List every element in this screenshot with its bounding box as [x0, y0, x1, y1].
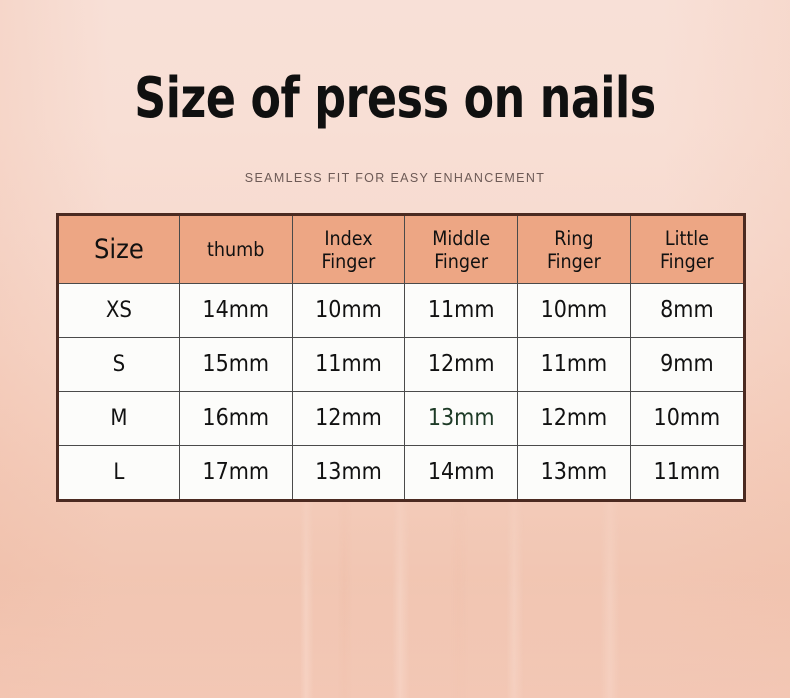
- cell-ring-finger-l: 13mm: [518, 446, 631, 500]
- column-header-little-finger-line2: Finger: [632, 250, 742, 273]
- cell-middle-finger-xs: 11mm: [405, 284, 518, 338]
- cell-size-s: S: [59, 338, 179, 392]
- cell-thumb-m: 16mm: [179, 392, 292, 446]
- column-header-middle-finger-line1: Middle: [406, 227, 516, 250]
- cell-ring-finger-m: 12mm: [518, 392, 631, 446]
- cell-size-m: M: [59, 392, 179, 446]
- background-bottom-glow: [0, 578, 790, 698]
- column-header-size-line1: Size: [60, 235, 178, 265]
- cell-index-finger-s: 11mm: [292, 338, 405, 392]
- cell-index-finger-xs: 10mm: [292, 284, 405, 338]
- cell-ring-finger-xs: 10mm: [518, 284, 631, 338]
- column-header-index-finger-line2: Finger: [294, 250, 404, 273]
- column-header-size: Size: [59, 216, 179, 284]
- cell-middle-finger-m: 13mm: [405, 392, 518, 446]
- cell-size-xs: XS: [59, 284, 179, 338]
- cell-middle-finger-s: 12mm: [405, 338, 518, 392]
- column-header-middle-finger-line2: Finger: [406, 250, 516, 273]
- column-header-thumb-line1: thumb: [181, 238, 291, 261]
- column-header-little-finger: Little Finger: [630, 216, 743, 284]
- cell-index-finger-m: 12mm: [292, 392, 405, 446]
- cell-thumb-s: 15mm: [179, 338, 292, 392]
- cell-middle-finger-l: 14mm: [405, 446, 518, 500]
- column-header-ring-finger: Ring Finger: [518, 216, 631, 284]
- size-table-body: XS 14mm 10mm 11mm 10mm 8mm S 15mm 11mm 1…: [59, 284, 743, 500]
- cell-little-finger-xs: 8mm: [630, 284, 743, 338]
- size-chart-page: Size of press on nails SEAMLESS FIT FOR …: [0, 0, 790, 698]
- cell-ring-finger-s: 11mm: [518, 338, 631, 392]
- size-table-container: Size thumb Index Finger Middle Finger: [56, 213, 746, 502]
- cell-little-finger-l: 11mm: [630, 446, 743, 500]
- column-header-ring-finger-line1: Ring: [519, 227, 629, 250]
- table-row: S 15mm 11mm 12mm 11mm 9mm: [59, 338, 743, 392]
- cell-thumb-xs: 14mm: [179, 284, 292, 338]
- column-header-index-finger-line1: Index: [294, 227, 404, 250]
- table-header-row: Size thumb Index Finger Middle Finger: [59, 216, 743, 284]
- cell-little-finger-m: 10mm: [630, 392, 743, 446]
- page-title: Size of press on nails: [47, 68, 742, 130]
- page-subtitle: SEAMLESS FIT FOR EASY ENHANCEMENT: [0, 170, 790, 186]
- column-header-ring-finger-line2: Finger: [519, 250, 629, 273]
- table-row: XS 14mm 10mm 11mm 10mm 8mm: [59, 284, 743, 338]
- size-table: Size thumb Index Finger Middle Finger: [59, 216, 743, 499]
- cell-thumb-l: 17mm: [179, 446, 292, 500]
- cell-index-finger-l: 13mm: [292, 446, 405, 500]
- cell-size-l: L: [59, 446, 179, 500]
- column-header-middle-finger: Middle Finger: [405, 216, 518, 284]
- column-header-index-finger: Index Finger: [292, 216, 405, 284]
- column-header-little-finger-line1: Little: [632, 227, 742, 250]
- column-header-thumb: thumb: [179, 216, 292, 284]
- cell-little-finger-s: 9mm: [630, 338, 743, 392]
- size-table-header: Size thumb Index Finger Middle Finger: [59, 216, 743, 284]
- table-row: M 16mm 12mm 13mm 12mm 10mm: [59, 392, 743, 446]
- table-row: L 17mm 13mm 14mm 13mm 11mm: [59, 446, 743, 500]
